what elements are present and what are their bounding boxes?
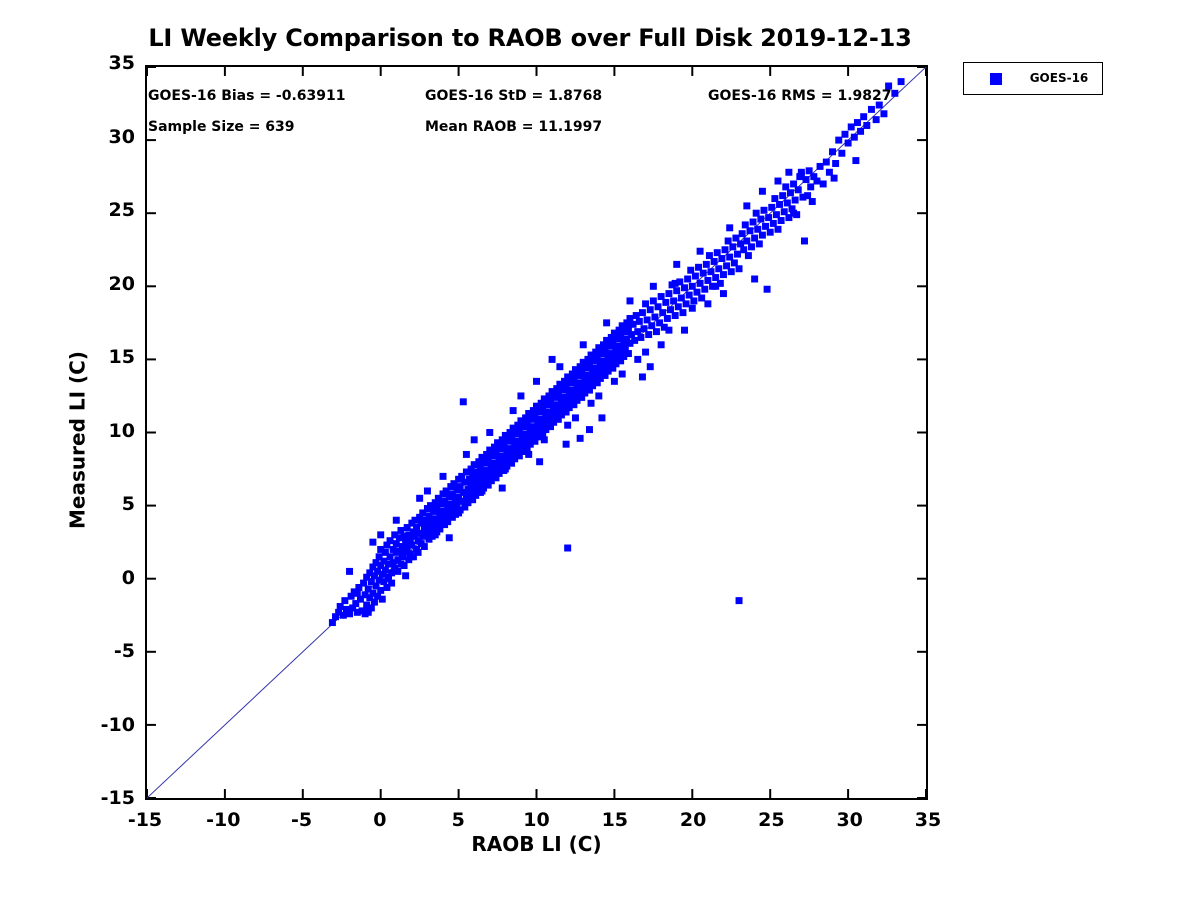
- figure-canvas: LI Weekly Comparison to RAOB over Full D…: [0, 0, 1200, 900]
- plot-area: [145, 65, 928, 800]
- scatter-point: [712, 283, 719, 290]
- scatter-point: [831, 175, 838, 182]
- scatter-point: [517, 392, 524, 399]
- scatter-point: [868, 106, 875, 113]
- scatter-point: [736, 265, 743, 272]
- scatter-point: [679, 309, 686, 316]
- scatter-point: [603, 319, 610, 326]
- x-tick-label: -5: [267, 809, 337, 831]
- scatter-point: [658, 341, 665, 348]
- scatter-point: [778, 217, 785, 224]
- scatter-point: [415, 549, 422, 556]
- scatter-point: [829, 148, 836, 155]
- x-tick-label: -15: [110, 809, 180, 831]
- scatter-point: [673, 287, 680, 294]
- scatter-point: [672, 312, 679, 319]
- legend: GOES-16: [963, 62, 1103, 95]
- scatter-point: [745, 252, 752, 259]
- scatter-point: [416, 495, 423, 502]
- scatter-point: [385, 575, 392, 582]
- scatter-point: [842, 131, 849, 138]
- scatter-point: [891, 90, 898, 97]
- y-tick-label: -10: [101, 714, 135, 736]
- scatter-point: [455, 509, 462, 516]
- y-tick-label: 15: [109, 346, 135, 368]
- scatter-point: [393, 517, 400, 524]
- scatter-point: [630, 321, 637, 328]
- scatter-point: [722, 246, 729, 253]
- scatter-point: [369, 539, 376, 546]
- scatter-point: [424, 487, 431, 494]
- scatter-point: [751, 276, 758, 283]
- scatter-point: [860, 113, 867, 120]
- scatter-point: [759, 232, 766, 239]
- scatter-point: [898, 78, 905, 85]
- scatter-point: [647, 363, 654, 370]
- scatter-point: [701, 286, 708, 293]
- scatter-point: [402, 572, 409, 579]
- scatter-point: [790, 210, 797, 217]
- scatter-point: [421, 543, 428, 550]
- x-axis-label: RAOB LI (C): [145, 832, 928, 856]
- scatter-point: [478, 487, 485, 494]
- y-axis-label: Measured LI (C): [66, 73, 90, 808]
- scatter-point: [588, 400, 595, 407]
- scatter-point: [823, 159, 830, 166]
- scatter-point: [775, 226, 782, 233]
- scatter-point: [634, 356, 641, 363]
- stat-std: GOES-16 StD = 1.8768: [425, 88, 602, 104]
- scatter-point: [880, 110, 887, 117]
- x-tick-label: 0: [345, 809, 415, 831]
- scatter-point: [787, 189, 794, 196]
- scatter-point: [698, 295, 705, 302]
- scatter-point: [662, 299, 669, 306]
- scatter-point: [653, 328, 660, 335]
- scatter-point: [379, 596, 386, 603]
- scatter-point: [792, 197, 799, 204]
- scatter-point: [813, 178, 820, 185]
- stat-sample-size: Sample Size = 639: [148, 119, 295, 135]
- chart-title: LI Weekly Comparison to RAOB over Full D…: [0, 24, 1060, 52]
- scatter-point: [639, 309, 646, 316]
- scatter-point: [683, 300, 690, 307]
- scatter-point: [346, 568, 353, 575]
- scatter-point: [471, 436, 478, 443]
- x-tick-label: -10: [188, 809, 258, 831]
- scatter-point: [665, 290, 672, 297]
- x-tick-label: 30: [815, 809, 885, 831]
- scatter-point: [626, 297, 633, 304]
- scatter-point: [803, 176, 810, 183]
- y-tick-label: 0: [122, 567, 135, 589]
- y-tick-label: -15: [101, 787, 135, 809]
- scatter-point: [863, 122, 870, 129]
- scatter-point: [586, 426, 593, 433]
- scatter-point: [625, 350, 632, 357]
- stat-bias: GOES-16 Bias = -0.63911: [148, 88, 346, 104]
- scatter-point: [801, 237, 808, 244]
- legend-marker-goes-16: [990, 73, 1002, 85]
- scatter-point: [510, 407, 517, 414]
- scatter-point: [642, 349, 649, 356]
- scatter-point: [809, 198, 816, 205]
- scatter-point: [572, 414, 579, 421]
- scatter-point: [851, 134, 858, 141]
- scatter-point: [463, 451, 470, 458]
- scatter-point: [341, 597, 348, 604]
- scatter-point: [595, 392, 602, 399]
- scatter-point: [734, 251, 741, 258]
- scatter-point: [703, 261, 710, 268]
- scatter-point: [639, 373, 646, 380]
- x-tick-label: 5: [423, 809, 493, 831]
- scatter-point: [580, 341, 587, 348]
- y-tick-label: 5: [122, 493, 135, 515]
- scatter-point: [750, 218, 757, 225]
- scatter-point: [533, 378, 540, 385]
- scatter-point: [631, 337, 638, 344]
- scatter-point: [764, 286, 771, 293]
- scatter-point: [711, 258, 718, 265]
- y-tick-label: 25: [109, 199, 135, 221]
- y-tick-label: 10: [109, 420, 135, 442]
- scatter-point: [820, 180, 827, 187]
- scatter-point: [499, 485, 506, 492]
- scatter-point: [832, 160, 839, 167]
- scatter-point: [736, 597, 743, 604]
- scatter-point: [690, 297, 697, 304]
- scatter-point: [748, 243, 755, 250]
- scatter-point: [728, 268, 735, 275]
- scatter-point: [681, 327, 688, 334]
- scatter-point: [563, 441, 570, 448]
- scatter-point: [541, 436, 548, 443]
- y-tick-label: 20: [109, 273, 135, 295]
- scatter-point: [525, 451, 532, 458]
- stat-mean-raob: Mean RAOB = 11.1997: [425, 119, 602, 135]
- scatter-point: [637, 334, 644, 341]
- scatter-point: [779, 192, 786, 199]
- y-tick-label: 35: [109, 52, 135, 74]
- scatter-point: [854, 119, 861, 126]
- scatter-point: [354, 590, 361, 597]
- scatter-point: [692, 273, 699, 280]
- scatter-point: [684, 276, 691, 283]
- scatter-point: [549, 356, 556, 363]
- scatter-point: [664, 315, 671, 322]
- scatter-point: [619, 371, 626, 378]
- scatter-point: [536, 458, 543, 465]
- scatter-points: [329, 78, 905, 626]
- scatter-point: [726, 224, 733, 231]
- scatter-point: [848, 123, 855, 130]
- scatter-point: [564, 422, 571, 429]
- legend-label-goes-16: GOES-16: [1019, 71, 1099, 85]
- scatter-point: [394, 568, 401, 575]
- scatter-point: [757, 216, 764, 223]
- scatter-point: [838, 150, 845, 157]
- scatter-point: [665, 327, 672, 334]
- scatter-point: [720, 271, 727, 278]
- scatter-point: [432, 531, 439, 538]
- scatter-point: [598, 414, 605, 421]
- scatter-point: [556, 363, 563, 370]
- x-tick-label: 35: [893, 809, 963, 831]
- scatter-point: [759, 188, 766, 195]
- scatter-point: [440, 473, 447, 480]
- scatter-point: [377, 531, 384, 538]
- scatter-point: [672, 280, 679, 287]
- scatter-point: [647, 306, 654, 313]
- scatter-point: [718, 255, 725, 262]
- scatter-point: [502, 466, 509, 473]
- x-tick-label: 15: [580, 809, 650, 831]
- scatter-point: [760, 207, 767, 214]
- scatter-point: [636, 318, 643, 325]
- plot-svg: [147, 67, 926, 798]
- scatter-point: [852, 157, 859, 164]
- x-tick-label: 20: [658, 809, 728, 831]
- scatter-point: [611, 378, 618, 385]
- x-tick-label: 10: [502, 809, 572, 831]
- scatter-point: [835, 137, 842, 144]
- scatter-point: [767, 229, 774, 236]
- scatter-point: [365, 606, 372, 613]
- scatter-point: [645, 331, 652, 338]
- scatter-point: [798, 169, 805, 176]
- scatter-point: [807, 183, 814, 190]
- stat-rms: GOES-16 RMS = 1.9827: [708, 88, 892, 104]
- y-tick-label: -5: [114, 640, 135, 662]
- scatter-point: [729, 243, 736, 250]
- scatter-point: [408, 553, 415, 560]
- scatter-point: [776, 201, 783, 208]
- scatter-point: [768, 204, 775, 211]
- scatter-point: [795, 186, 802, 193]
- scatter-point: [577, 435, 584, 442]
- scatter-point: [377, 587, 384, 594]
- scatter-point: [845, 140, 852, 147]
- scatter-point: [857, 128, 864, 135]
- scatter-point: [746, 227, 753, 234]
- scatter-point: [775, 178, 782, 185]
- scatter-point: [873, 116, 880, 123]
- scatter-point: [564, 545, 571, 552]
- scatter-point: [756, 240, 763, 247]
- scatter-point: [743, 202, 750, 209]
- scatter-point: [785, 169, 792, 176]
- scatter-point: [700, 270, 707, 277]
- scatter-point: [817, 163, 824, 170]
- x-tick-label: 25: [736, 809, 806, 831]
- scatter-point: [689, 305, 696, 312]
- scatter-point: [486, 429, 493, 436]
- scatter-point: [650, 283, 657, 290]
- scatter-point: [739, 230, 746, 237]
- scatter-point: [704, 300, 711, 307]
- scatter-point: [697, 248, 704, 255]
- scatter-point: [720, 290, 727, 297]
- scatter-point: [673, 261, 680, 268]
- scatter-point: [681, 284, 688, 291]
- scatter-point: [460, 398, 467, 405]
- y-tick-label: 30: [109, 126, 135, 148]
- scatter-point: [446, 534, 453, 541]
